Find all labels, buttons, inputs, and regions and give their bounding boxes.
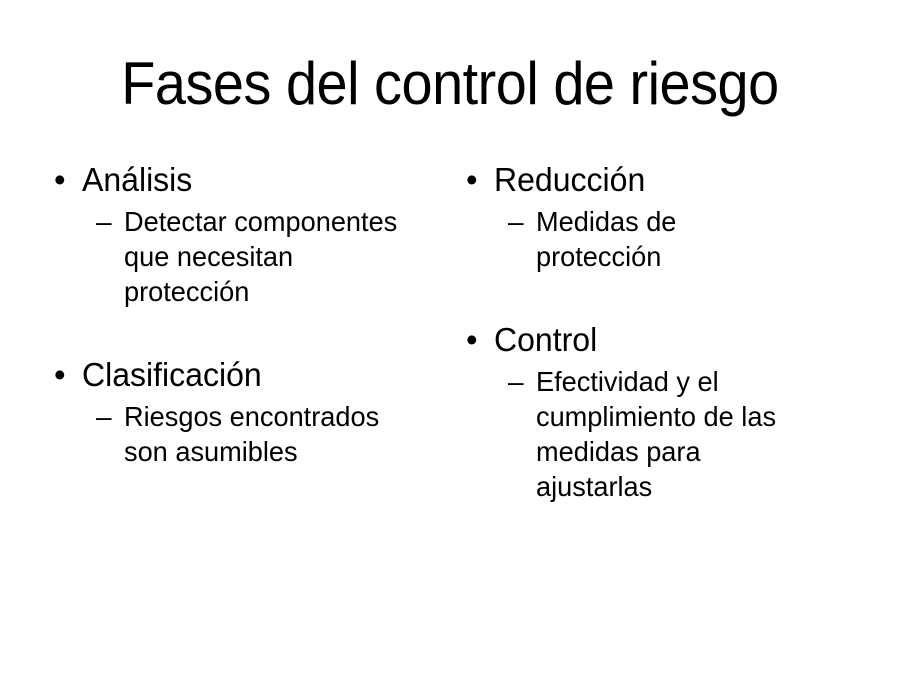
slide-body: • Análisis – Detectar componentes que ne… xyxy=(0,160,900,560)
subbullet-text-reduccion-1: Medidas de protección xyxy=(536,204,808,274)
subbullet-text-clasificacion-1: Riesgos encontrados son asumibles xyxy=(124,399,421,469)
list-item[interactable]: – Detectar componentes que necesitan pro… xyxy=(48,204,448,309)
bullet-heading-clasificacion: Clasificación xyxy=(82,355,437,395)
dash-bullet-icon: – xyxy=(508,204,536,239)
bullet-heading-control: Control xyxy=(494,320,849,360)
block-spacer xyxy=(460,274,860,320)
list-item[interactable]: • Análisis xyxy=(48,160,448,200)
list-item[interactable]: • Clasificación xyxy=(48,355,448,395)
list-item[interactable]: • Control xyxy=(460,320,860,360)
slide-canvas: Fases del control de riesgo • Análisis –… xyxy=(0,0,900,675)
subbullet-text-control-1: Efectividad y el cumplimiento de las med… xyxy=(536,364,808,504)
dash-bullet-icon: – xyxy=(96,204,124,239)
left-column: • Análisis – Detectar componentes que ne… xyxy=(48,160,448,469)
bullet-dot-icon: • xyxy=(460,320,494,360)
bullet-dot-icon: • xyxy=(48,355,82,395)
bullet-heading-reduccion: Reducción xyxy=(494,160,849,200)
bullet-heading-analisis: Análisis xyxy=(82,160,437,200)
dash-bullet-icon: – xyxy=(96,399,124,434)
bullet-dot-icon: • xyxy=(460,160,494,200)
bullet-block-analisis: • Análisis – Detectar componentes que ne… xyxy=(48,160,448,309)
page-title: Fases del control de riesgo xyxy=(32,52,869,116)
block-spacer xyxy=(48,309,448,355)
dash-bullet-icon: – xyxy=(508,364,536,399)
subbullet-text-analisis-1: Detectar componentes que necesitan prote… xyxy=(124,204,421,309)
list-item[interactable]: • Reducción xyxy=(460,160,860,200)
bullet-block-control: • Control – Efectividad y el cumplimient… xyxy=(460,320,860,504)
bullet-dot-icon: • xyxy=(48,160,82,200)
list-item[interactable]: – Riesgos encontrados son asumibles xyxy=(48,399,448,469)
list-item[interactable]: – Medidas de protección xyxy=(460,204,860,274)
bullet-block-clasificacion: • Clasificación – Riesgos encontrados so… xyxy=(48,355,448,469)
bullet-block-reduccion: • Reducción – Medidas de protección xyxy=(460,160,860,274)
list-item[interactable]: – Efectividad y el cumplimiento de las m… xyxy=(460,364,860,504)
right-column: • Reducción – Medidas de protección • Co… xyxy=(460,160,860,504)
